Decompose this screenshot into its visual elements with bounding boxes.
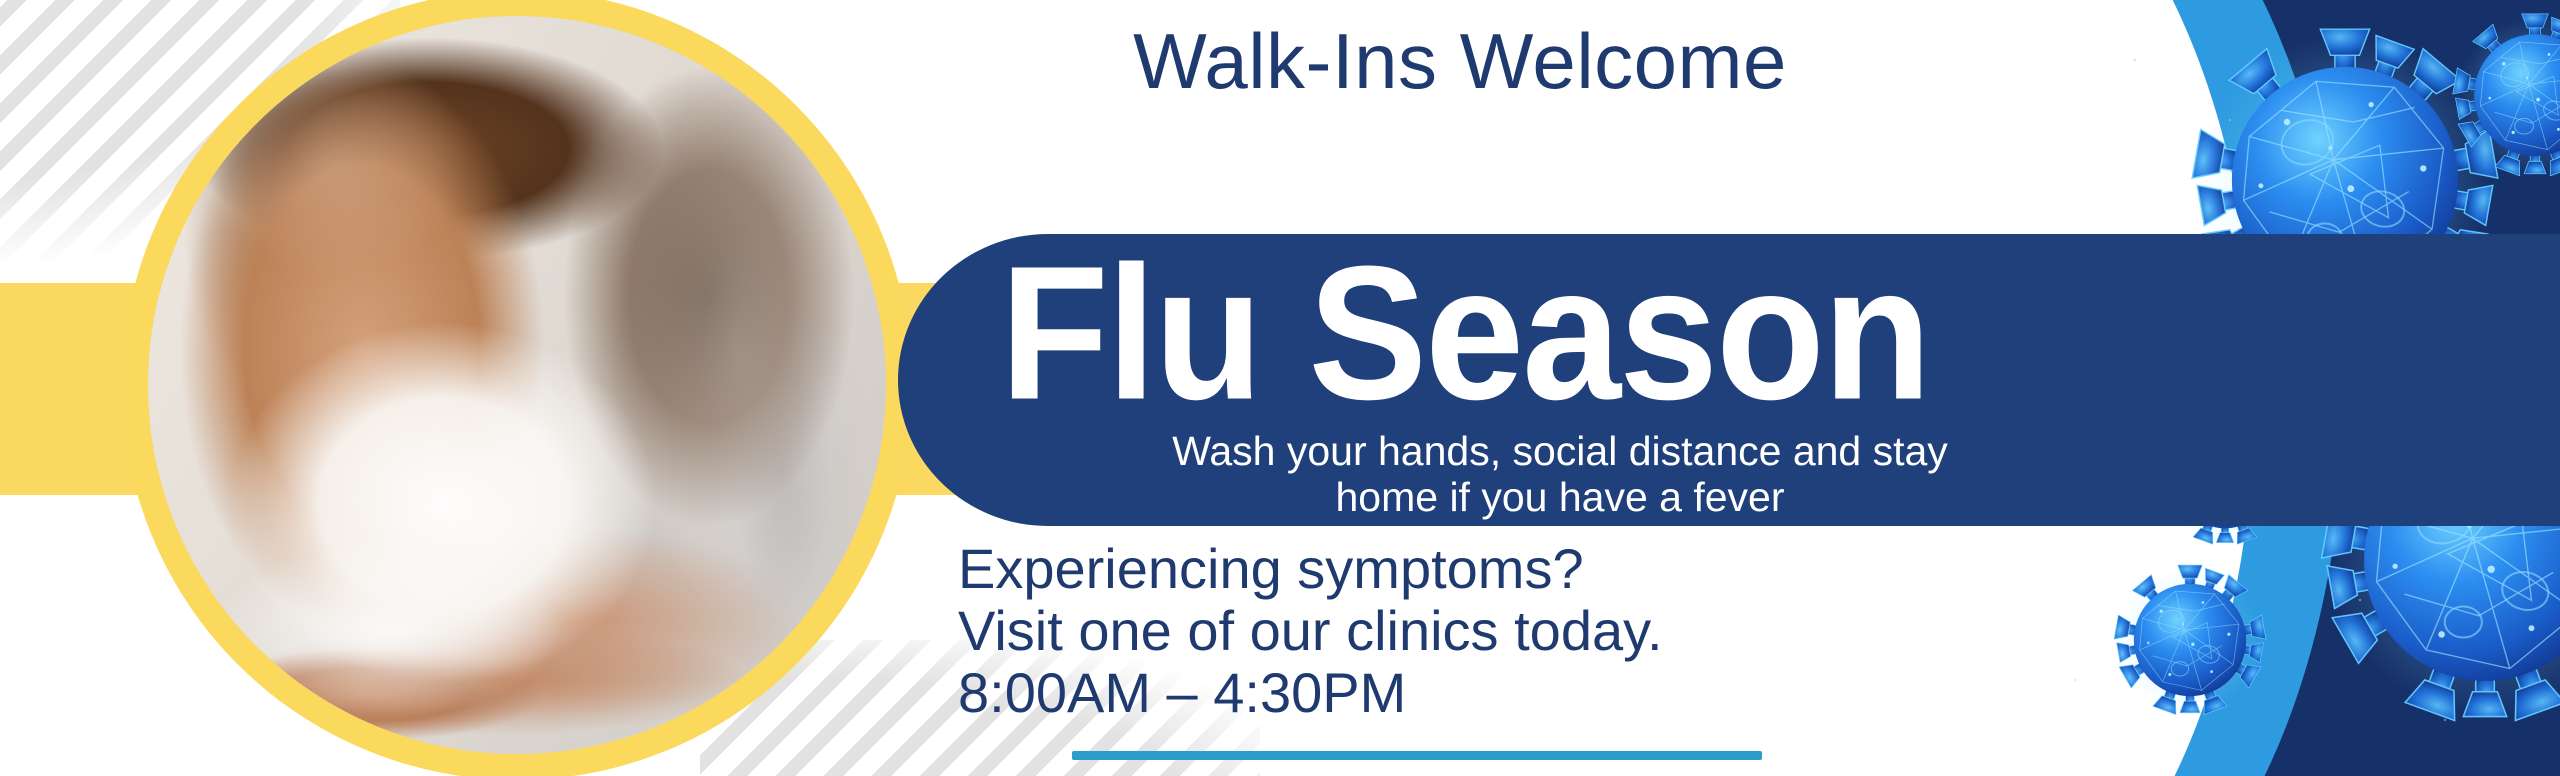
flu-season-title: Flu Season — [1000, 238, 1930, 428]
photo-circle-yellow-ring — [122, 0, 912, 776]
cta-line-visit-clinic: Visit one of our clinics today. — [958, 600, 1663, 662]
flu-season-subtitle: Wash your hands, social distance and sta… — [1020, 428, 2100, 520]
page-title-walk-ins-welcome: Walk-Ins Welcome — [960, 16, 1960, 107]
flu-subtitle-line-2: home if you have a fever — [1336, 474, 1785, 520]
flu-season-banner: Walk-Ins Welcome Flu Season Wash your ha… — [0, 0, 2560, 776]
flu-subtitle-line-1: Wash your hands, social distance and sta… — [1172, 428, 1948, 474]
blue-underline-rule — [1072, 751, 1762, 760]
photo-light-overlay — [148, 16, 886, 754]
call-to-action-block: Experiencing symptoms? Visit one of our … — [958, 538, 1663, 724]
clinic-hours: 8:00AM – 4:30PM — [958, 662, 1663, 724]
sick-woman-photo — [148, 16, 886, 754]
cta-line-experiencing-symptoms: Experiencing symptoms? — [958, 538, 1663, 600]
